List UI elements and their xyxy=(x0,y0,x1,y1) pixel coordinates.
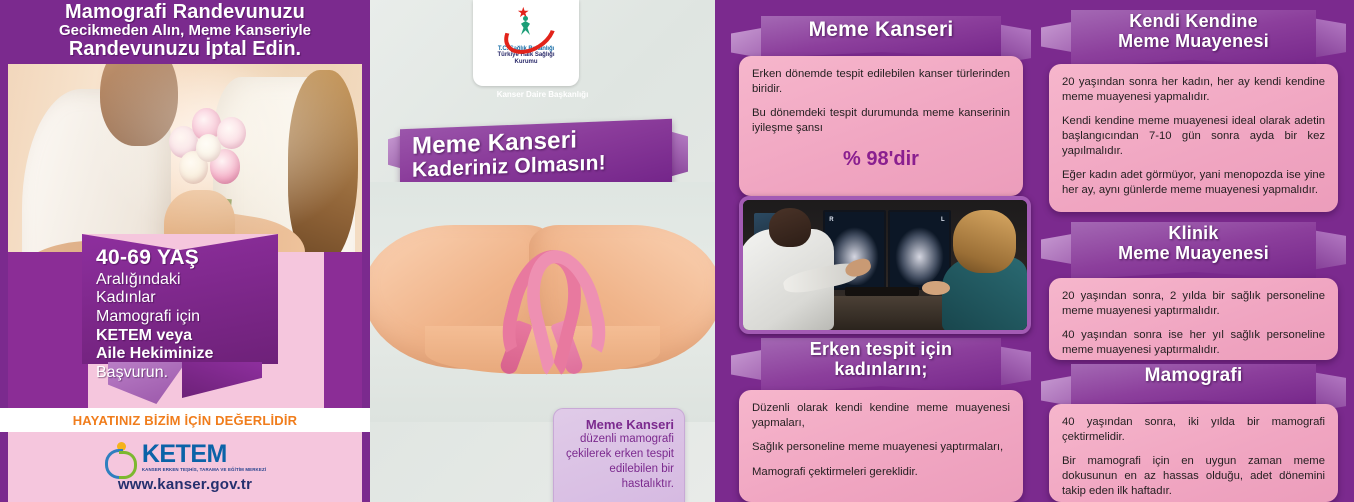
ketem-wordmark: KETEM xyxy=(142,440,227,468)
meme-kanseri-stat: % 98'dir xyxy=(752,146,1010,172)
headline-line-1: Mamografi Randevunuzu xyxy=(65,2,305,22)
card-title-mamografi: Mamografi xyxy=(1041,366,1346,387)
card-title-erken-line-1: Erken tespit için xyxy=(731,340,1031,360)
ribbon-line-4: Mamografi için xyxy=(96,308,272,327)
card-title-meme-kanseri: Meme Kanseri xyxy=(731,18,1031,41)
doctor-reviewing-mammogram-with-patient-photo: R L xyxy=(739,196,1031,334)
klinik-p1: 20 yaşından sonra, 2 yılda bir sağlık pe… xyxy=(1062,289,1325,318)
meme-kanseri-p1: Erken dönemde tespit edilebilen kanser t… xyxy=(752,67,1010,96)
center-note-box: Meme Kanseri düzenli mamografi çekilerek… xyxy=(553,408,685,502)
erken-tespit-p2: Sağlık personeline meme muayenesi yaptır… xyxy=(752,440,1010,455)
age-recommendation-ribbon: 40-69 YAŞ Aralığındaki Kadınlar Mamograf… xyxy=(82,234,278,394)
card-title-klinik-line-1: Klinik xyxy=(1041,224,1346,244)
meme-kanseri-p2: Bu dönemdeki tespit durumunda meme kanse… xyxy=(752,106,1010,135)
ministry-of-health-emblem-icon: ★ xyxy=(499,5,553,45)
slogan-text: HAYATINIZ BİZİM İÇİN DEĞERLİDİR xyxy=(73,413,298,428)
headline-line-2: Gecikmeden Alın, Meme Kanseriyle xyxy=(59,22,311,39)
hands-holding-pink-ribbon-photo xyxy=(370,182,715,422)
erken-tespit-p3: Mamografi çektirmeleri gereklidir. xyxy=(752,465,1010,480)
ribbon-line-2: Aralığındaki xyxy=(96,271,272,290)
ketem-figure-icon xyxy=(104,442,138,474)
moh-line-3: Kurumu xyxy=(515,59,538,66)
ribbon-line-7: Başvurun. xyxy=(96,364,272,383)
pink-awareness-ribbon-icon xyxy=(495,249,591,379)
mammogram-label-right: R xyxy=(829,217,833,223)
age-range-text: 40-69 YAŞ xyxy=(96,246,272,271)
ribbon-line-5: KETEM veya xyxy=(96,327,272,346)
mamografi-p1: 40 yaşından sonra, iki yılda bir mamogra… xyxy=(1062,415,1325,444)
center-note-heading: Meme Kanseri xyxy=(562,417,674,432)
ketem-subtitle: KANSER ERKEN TEŞHİS, TARAMA VE EĞİTİM ME… xyxy=(142,467,266,472)
ketem-logo-area: KETEM KANSER ERKEN TEŞHİS, TARAMA VE EĞİ… xyxy=(8,432,362,502)
moh-caption: Kanser Daire Başkanlığı xyxy=(370,90,715,99)
ribbon-line-3: Kadınlar xyxy=(96,289,272,308)
headline-line-3: Randevunuzu İptal Edin. xyxy=(69,39,301,60)
ribbon-line-6: Aile Hekiminize xyxy=(96,345,272,364)
center-note-body: düzenli mamografi çekilerek erken tespit… xyxy=(562,432,674,492)
bouquet-icon xyxy=(164,102,260,209)
kendi-kendine-p1: 20 yaşından sonra her kadın, her ay kend… xyxy=(1062,75,1325,104)
slogan-strip: HAYATINIZ BİZİM İÇİN DEĞERLİDİR xyxy=(0,408,370,432)
ketem-logo: KETEM KANSER ERKEN TEŞHİS, TARAMA VE EĞİ… xyxy=(104,442,266,474)
left-panel: Mamografi Randevunuzu Gecikmeden Alın, M… xyxy=(0,0,370,502)
right-content-area: Meme Kanseri Erken dönemde tespit edileb… xyxy=(715,0,1354,502)
center-panel: ★ T.C. Sağlık Bakanlığı Türkiye Halk Sağ… xyxy=(370,0,715,502)
mammogram-monitor-right: L xyxy=(888,210,952,289)
mammogram-label-left: L xyxy=(941,217,945,223)
erken-tespit-p1: Düzenli olarak kendi kendine meme muayen… xyxy=(752,401,1010,430)
ministry-of-health-logo-card: ★ T.C. Sağlık Bakanlığı Türkiye Halk Sağ… xyxy=(473,0,579,86)
ketem-website-url[interactable]: www.kanser.gov.tr xyxy=(118,476,252,493)
left-headline: Mamografi Randevunuzu Gecikmeden Alın, M… xyxy=(0,0,370,62)
kendi-kendine-p2: Kendi kendine meme muayenesi ideal olara… xyxy=(1062,114,1325,158)
klinik-p2: 40 yaşından sonra ise her yıl sağlık per… xyxy=(1062,328,1325,357)
card-title-kendi-kendine-line-2: Meme Muayenesi xyxy=(1041,32,1346,52)
kendi-kendine-p3: Eğer kadın adet görmüyor, yani menopozda… xyxy=(1062,168,1325,197)
card-title-erken-line-2: kadınların; xyxy=(731,360,1031,380)
card-title-kendi-kendine-line-1: Kendi Kendine xyxy=(1041,12,1346,32)
mamografi-p2: Bir mamografi için en uygun zaman meme d… xyxy=(1062,454,1325,498)
breast-cancer-awareness-poster: Mamografi Randevunuzu Gecikmeden Alın, M… xyxy=(0,0,1354,502)
card-title-klinik-line-2: Meme Muayenesi xyxy=(1041,244,1346,264)
